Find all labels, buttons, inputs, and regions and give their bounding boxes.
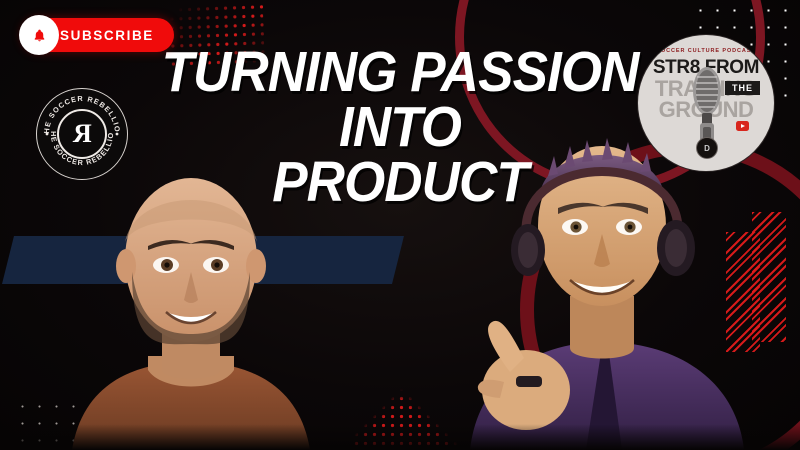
red-dashed-diagonals-right-2: [752, 212, 786, 342]
subscribe-button[interactable]: SUBSCRIBE: [22, 18, 174, 52]
badge-monogram: R: [73, 119, 92, 149]
podcast-cover-logo: TRAINING GROUND SOCCER CULTURE PODCAST S…: [638, 35, 774, 171]
red-halftone-top: [167, 2, 265, 69]
youtube-play-icon: [736, 121, 749, 131]
soccer-rebellion-badge: THE SOCCER REBELLION THE SOCCER REBELLIO…: [36, 88, 128, 180]
bottom-fade: [0, 424, 800, 450]
subscribe-label: SUBSCRIBE: [60, 28, 154, 43]
thumbnail-canvas: TURNING PASSION INTO PRODUCT SUBSCRIBE T…: [0, 0, 800, 450]
podcast-the-badge: THE: [725, 81, 760, 95]
podcast-tagline: SOCCER CULTURE PODCAST: [638, 48, 774, 54]
bell-icon: [19, 15, 59, 55]
pointing-hand: [478, 321, 570, 430]
vinyl-disc-icon: D: [696, 137, 718, 159]
